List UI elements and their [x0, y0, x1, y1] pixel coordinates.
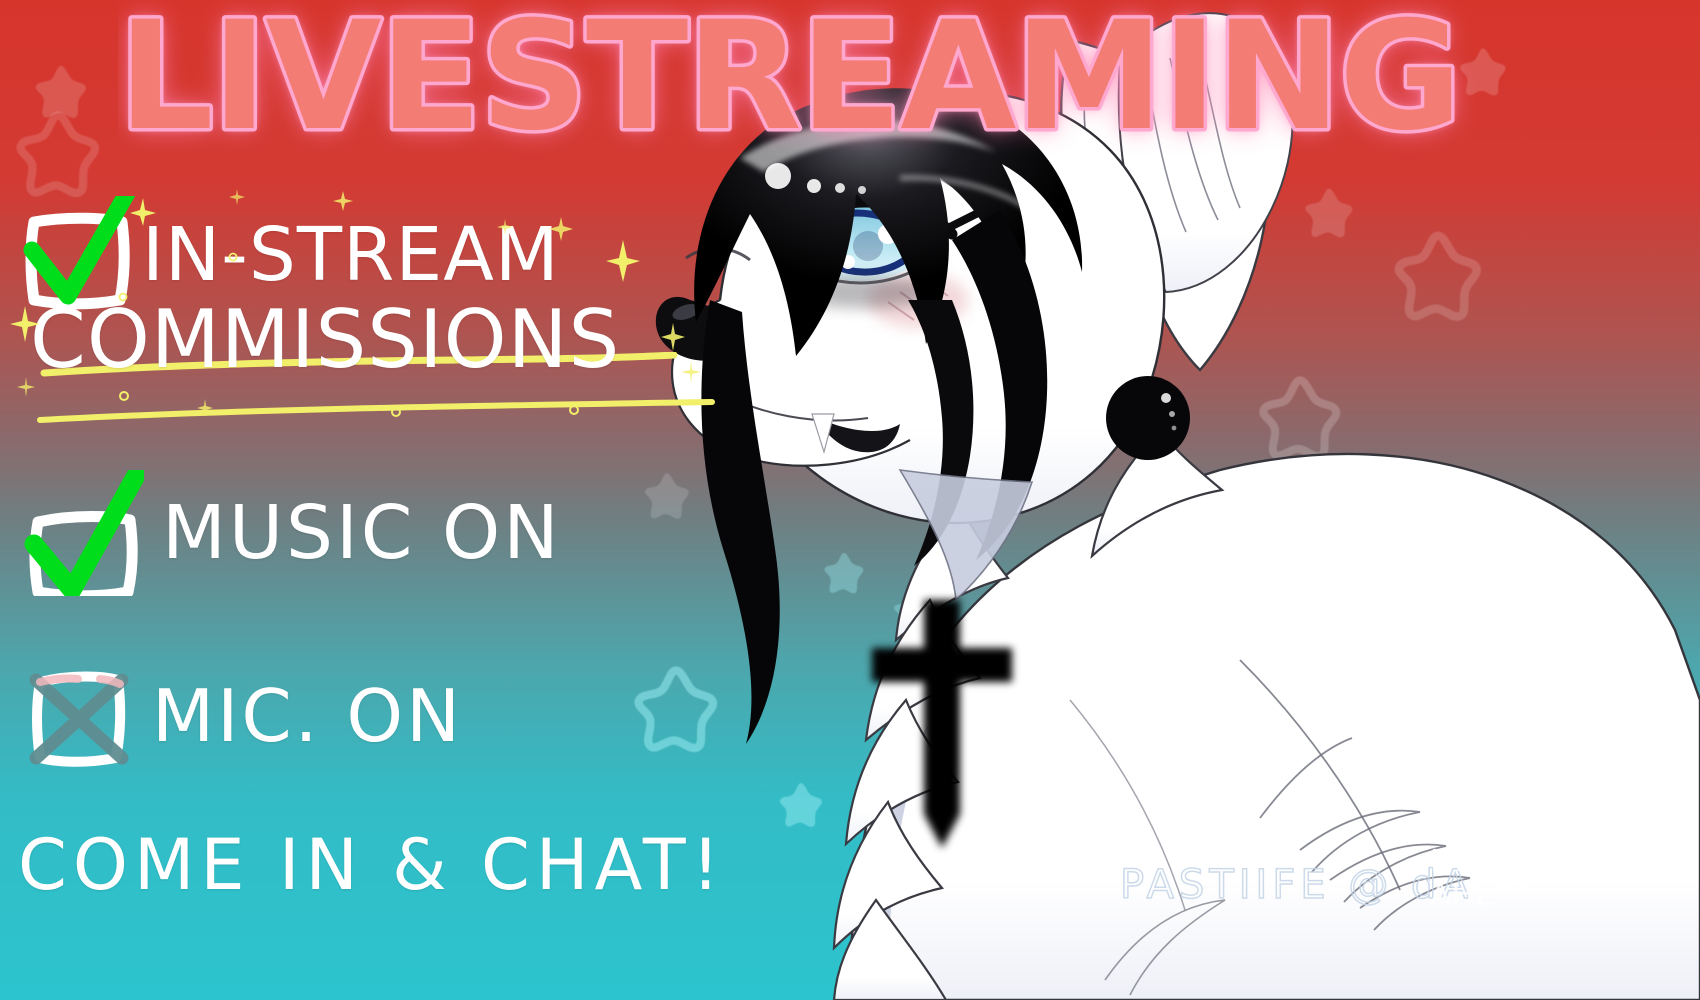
- call-to-action-text: COME IN & CHAT!: [18, 830, 726, 900]
- checklist-label-mic: MIC. ON: [152, 680, 463, 752]
- sparkle-icon: [388, 404, 404, 420]
- checklist-label-music: MUSIC ON: [162, 496, 562, 570]
- sparkle-icon: [116, 388, 132, 404]
- livestream-banner: LIVESTREAMING LIVESTREAMING LIVESTREAMIN…: [0, 0, 1700, 1000]
- sparkle-icon: [566, 402, 582, 418]
- checklist-item-commissions-line2: COMMISSIONS: [30, 300, 620, 380]
- checklist-label-in-stream: IN-STREAM: [142, 218, 560, 292]
- checkbox-checked-music[interactable]: [22, 470, 144, 596]
- wolf-ear-piercing: [1106, 376, 1190, 460]
- checklist-item-mic[interactable]: MIC. ON: [22, 660, 463, 772]
- svg-text:LIVESTREAMING: LIVESTREAMING: [118, 0, 1460, 164]
- sparkle-icon: [196, 398, 214, 418]
- checkbox-crossed-mic[interactable]: [22, 660, 134, 772]
- checklist-item-music[interactable]: MUSIC ON: [22, 470, 562, 596]
- star-icon: [30, 62, 92, 124]
- page-title: LIVESTREAMING LIVESTREAMING LIVESTREAMIN…: [118, 0, 1578, 167]
- star-icon: [12, 110, 104, 202]
- checklist-label-commissions: COMMISSIONS: [30, 300, 620, 380]
- call-to-action: COME IN & CHAT!: [18, 830, 726, 900]
